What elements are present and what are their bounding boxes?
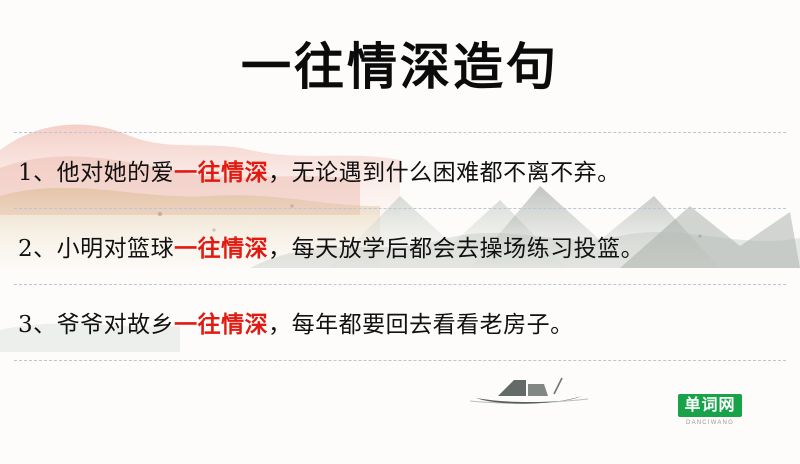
slide-title: 一往情深造句 xyxy=(0,38,800,96)
sentence-number: 1、 xyxy=(18,160,57,186)
sentence-text: 1、他对她的爱一往情深，无论遇到什么困难都不离不弃。 xyxy=(18,153,782,187)
sentence-before: 他对她的爱 xyxy=(57,160,175,186)
dashed-divider xyxy=(14,360,786,361)
sentence-after: ，每年都要回去看看老房子。 xyxy=(268,312,574,338)
sentence-row: 2、小明对篮球一往情深，每天放学后都会去操场练习投篮。 xyxy=(0,208,800,284)
sentence-text: 2、小明对篮球一往情深，每天放学后都会去操场练习投篮。 xyxy=(18,229,782,263)
sentence-number: 3、 xyxy=(18,312,57,338)
sentence-after: ，无论遇到什么困难都不离不弃。 xyxy=(268,160,621,186)
sentence-text: 3、爷爷对故乡一往情深，每年都要回去看看老房子。 xyxy=(18,305,782,339)
sentence-idiom: 一往情深 xyxy=(174,159,268,186)
dashed-divider xyxy=(14,132,786,133)
slide-canvas: 一往情深造句 1、他对她的爱一往情深，无论遇到什么困难都不离不弃。 2、小明对篮… xyxy=(0,0,800,464)
sentence-idiom: 一往情深 xyxy=(174,235,268,262)
sentence-row: 1、他对她的爱一往情深，无论遇到什么困难都不离不弃。 xyxy=(0,132,800,208)
sentence-before: 小明对篮球 xyxy=(57,236,175,262)
sentence-number: 2、 xyxy=(18,236,57,262)
slide-title-text: 一往情深造句 xyxy=(0,38,800,96)
dashed-divider xyxy=(14,208,786,209)
ink-boat-icon xyxy=(470,368,590,408)
logo-sub-text: DANCIWANG xyxy=(677,420,743,426)
sentence-after: ，每天放学后都会去操场练习投篮。 xyxy=(268,236,644,262)
dashed-divider xyxy=(14,284,786,285)
logo-badge-text: 单词网 xyxy=(678,394,741,417)
site-logo[interactable]: 单词网 DANCIWANG xyxy=(677,394,743,426)
sentence-before: 爷爷对故乡 xyxy=(57,312,175,338)
sentence-idiom: 一往情深 xyxy=(174,311,268,338)
sentence-row: 3、爷爷对故乡一往情深，每年都要回去看看老房子。 xyxy=(0,284,800,360)
sentence-list: 1、他对她的爱一往情深，无论遇到什么困难都不离不弃。 2、小明对篮球一往情深，每… xyxy=(0,132,800,360)
